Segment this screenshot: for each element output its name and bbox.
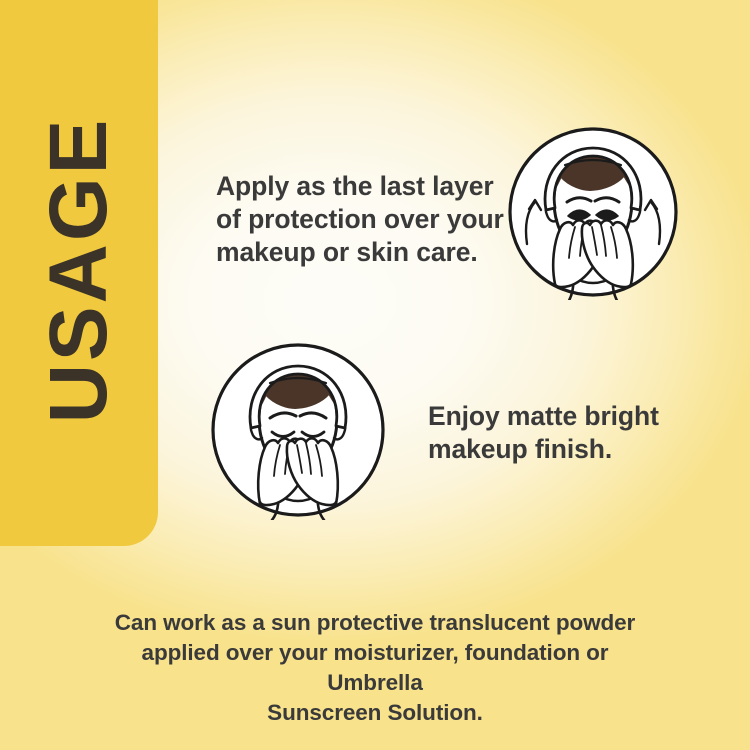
step-1-text: Apply as the last layer of protection ov… bbox=[216, 170, 506, 269]
step-1-line-2: of protection over your bbox=[216, 203, 506, 236]
page-title: USAGE bbox=[38, 117, 120, 424]
footer-line-2: applied over your moisturizer, foundatio… bbox=[95, 638, 655, 698]
step-2-line-2: makeup finish. bbox=[428, 433, 688, 466]
step-1-line-1: Apply as the last layer bbox=[216, 170, 506, 203]
face-apply-powder-icon bbox=[505, 124, 681, 305]
footer-line-3: Sunscreen Solution. bbox=[95, 698, 655, 728]
usage-panel: USAGE bbox=[0, 0, 158, 546]
face-matte-finish-icon bbox=[208, 340, 388, 525]
footer-note: Can work as a sun protective translucent… bbox=[0, 608, 750, 728]
usage-poster: USAGE Apply as the last layer of protect… bbox=[0, 0, 750, 750]
step-2-text: Enjoy matte bright makeup finish. bbox=[428, 400, 688, 466]
step-1-line-3: makeup or skin care. bbox=[216, 236, 506, 269]
footer-line-1: Can work as a sun protective translucent… bbox=[95, 608, 655, 638]
step-2-line-1: Enjoy matte bright bbox=[428, 400, 688, 433]
